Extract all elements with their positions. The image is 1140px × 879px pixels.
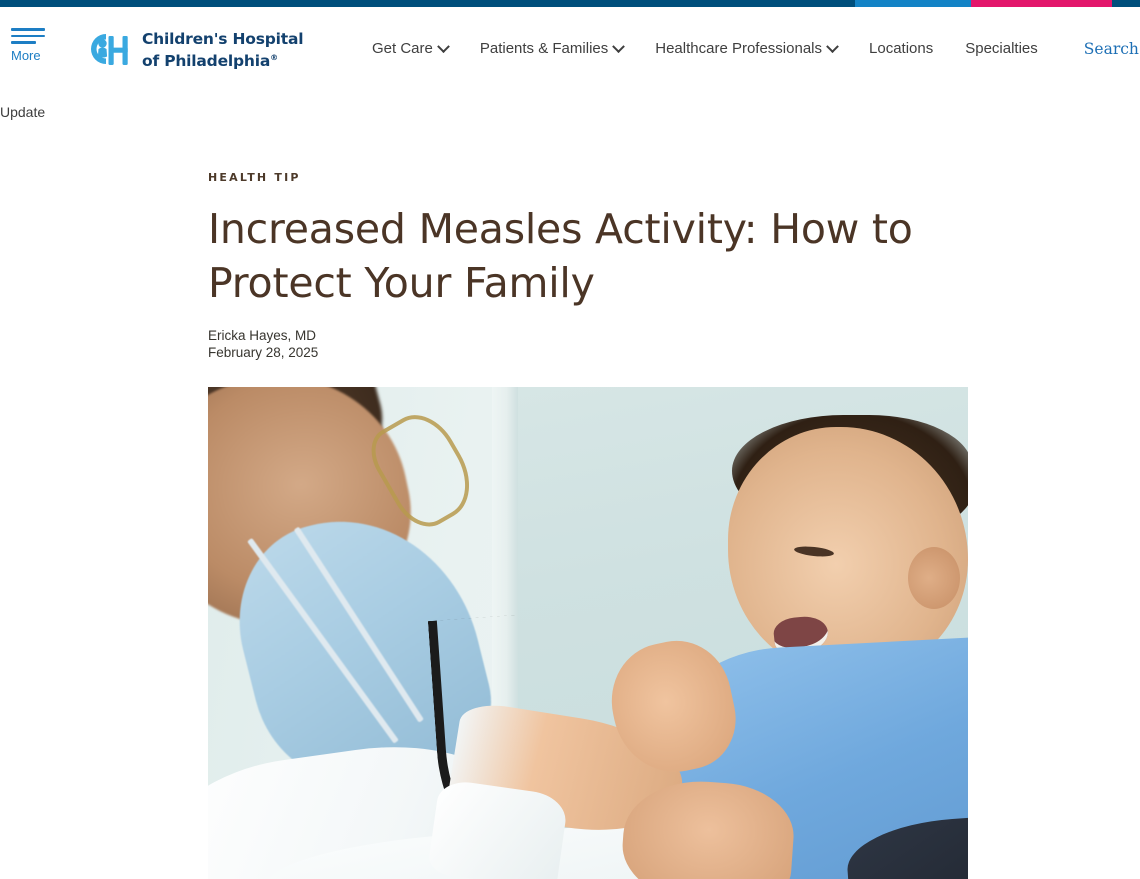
article-eyebrow: HEALTH TIP xyxy=(208,171,968,185)
update-banner-text: Update xyxy=(0,103,45,121)
accent-segment-navy-left xyxy=(0,0,855,7)
logo-wordmark: Children's Hospital of Philadelphia® xyxy=(142,30,303,70)
site-header: More Children's Hospital of Philadelphia… xyxy=(0,7,1140,89)
site-logo[interactable]: Children's Hospital of Philadelphia® xyxy=(84,30,303,70)
hamburger-icon xyxy=(11,26,45,44)
chevron-down-icon xyxy=(437,40,450,53)
logo-line-2: of Philadelphia xyxy=(142,52,270,70)
search-button[interactable]: Search xyxy=(1084,40,1140,58)
top-accent-bar xyxy=(0,0,1140,7)
main-navigation: Get Care Patients & Families Healthcare … xyxy=(372,40,1140,58)
chevron-down-icon xyxy=(612,40,625,53)
more-menu-label: More xyxy=(11,48,71,63)
accent-segment-blue xyxy=(855,0,971,7)
nav-item-patients-families-label: Patients & Families xyxy=(480,40,608,58)
page-title: Increased Measles Activity: How to Prote… xyxy=(208,202,968,310)
chevron-down-icon xyxy=(826,40,839,53)
nav-item-locations-label: Locations xyxy=(869,40,933,58)
article-body: HEALTH TIP Increased Measles Activity: H… xyxy=(208,137,968,879)
nav-item-locations[interactable]: Locations xyxy=(869,40,933,58)
search-label: Search xyxy=(1084,40,1139,58)
nav-item-specialties[interactable]: Specialties xyxy=(965,40,1038,58)
nav-item-get-care-label: Get Care xyxy=(372,40,433,58)
photo-baby-ear xyxy=(908,547,960,609)
nav-item-healthcare-professionals[interactable]: Healthcare Professionals xyxy=(655,40,837,58)
nav-item-healthcare-professionals-label: Healthcare Professionals xyxy=(655,40,822,58)
more-menu-button[interactable]: More xyxy=(11,26,71,63)
hero-photo-canvas xyxy=(208,387,968,879)
article-hero-image xyxy=(208,387,968,879)
logo-line-1: Children's Hospital xyxy=(142,30,303,48)
logo-registered-mark: ® xyxy=(270,53,278,62)
nav-item-patients-families[interactable]: Patients & Families xyxy=(480,40,623,58)
nav-item-specialties-label: Specialties xyxy=(965,40,1038,58)
accent-segment-navy-right xyxy=(1112,0,1140,7)
article-date: February 28, 2025 xyxy=(208,344,968,361)
article-author: Ericka Hayes, MD xyxy=(208,327,968,344)
nav-item-get-care[interactable]: Get Care xyxy=(372,40,448,58)
accent-segment-pink xyxy=(971,0,1112,7)
article-byline: Ericka Hayes, MD February 28, 2025 xyxy=(208,327,968,361)
update-banner: Update xyxy=(0,89,1140,137)
chop-logo-icon xyxy=(84,30,134,70)
